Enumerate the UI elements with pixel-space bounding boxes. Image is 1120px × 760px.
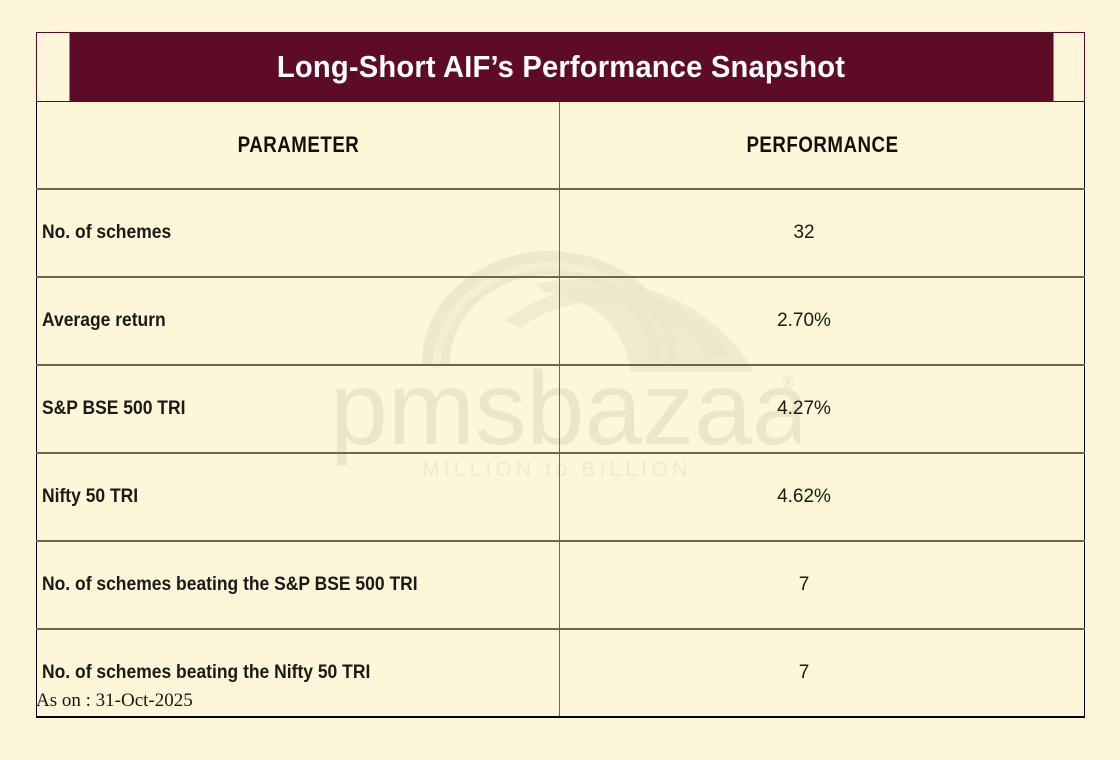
- performance-snapshot-table: Long-Short AIF’s Performance Snapshot PA…: [36, 32, 1085, 718]
- row-performance-cell: 32: [560, 189, 1085, 277]
- row-performance-value: 7: [799, 662, 810, 684]
- row-performance-cell: 7: [560, 541, 1085, 629]
- row-parameter-cell: No. of schemes: [37, 189, 560, 277]
- row-performance-value: 32: [793, 222, 814, 244]
- table-row: Average return 2.70%: [37, 277, 1085, 365]
- table-title-row: Long-Short AIF’s Performance Snapshot: [37, 33, 1085, 102]
- as-on-date-note: As on : 31-Oct-2025: [36, 690, 193, 712]
- row-parameter-label: No. of schemes: [42, 222, 171, 244]
- row-performance-value: 4.62%: [777, 486, 831, 508]
- table-row: S&P BSE 500 TRI 4.27%: [37, 365, 1085, 453]
- row-parameter-label: Nifty 50 TRI: [42, 486, 138, 508]
- row-performance-value: 4.27%: [777, 398, 831, 420]
- row-performance-cell: 4.62%: [560, 453, 1085, 541]
- screenshot-canvas: pmsbazaar ® MILLION to BILLION Long-Shor…: [0, 0, 1120, 760]
- row-parameter-label: S&P BSE 500 TRI: [42, 398, 185, 420]
- row-parameter-cell: Average return: [37, 277, 560, 365]
- page-title: Long-Short AIF’s Performance Snapshot: [68, 33, 1053, 102]
- row-performance-cell: 4.27%: [560, 365, 1085, 453]
- row-performance-cell: 7: [560, 629, 1085, 717]
- row-parameter-cell: Nifty 50 TRI: [37, 453, 560, 541]
- row-performance-cell: 2.70%: [560, 277, 1085, 365]
- row-performance-value: 2.70%: [777, 310, 831, 332]
- row-parameter-label: No. of schemes beating the S&P BSE 500 T…: [42, 574, 418, 596]
- row-parameter-label: Average return: [42, 310, 166, 332]
- table-row: Nifty 50 TRI 4.62%: [37, 453, 1085, 541]
- table-row: No. of schemes 32: [37, 189, 1085, 277]
- table-header-row: PARAMETER PERFORMANCE: [37, 102, 1085, 190]
- column-header-parameter: PARAMETER: [76, 102, 521, 190]
- row-performance-value: 7: [799, 574, 810, 596]
- row-parameter-label: No. of schemes beating the Nifty 50 TRI: [42, 662, 370, 684]
- row-parameter-cell: No. of schemes beating the S&P BSE 500 T…: [37, 541, 560, 629]
- column-header-performance: PERFORMANCE: [599, 102, 1045, 190]
- table-row: No. of schemes beating the Nifty 50 TRI …: [37, 629, 1085, 717]
- row-parameter-cell: S&P BSE 500 TRI: [37, 365, 560, 453]
- table-row: No. of schemes beating the S&P BSE 500 T…: [37, 541, 1085, 629]
